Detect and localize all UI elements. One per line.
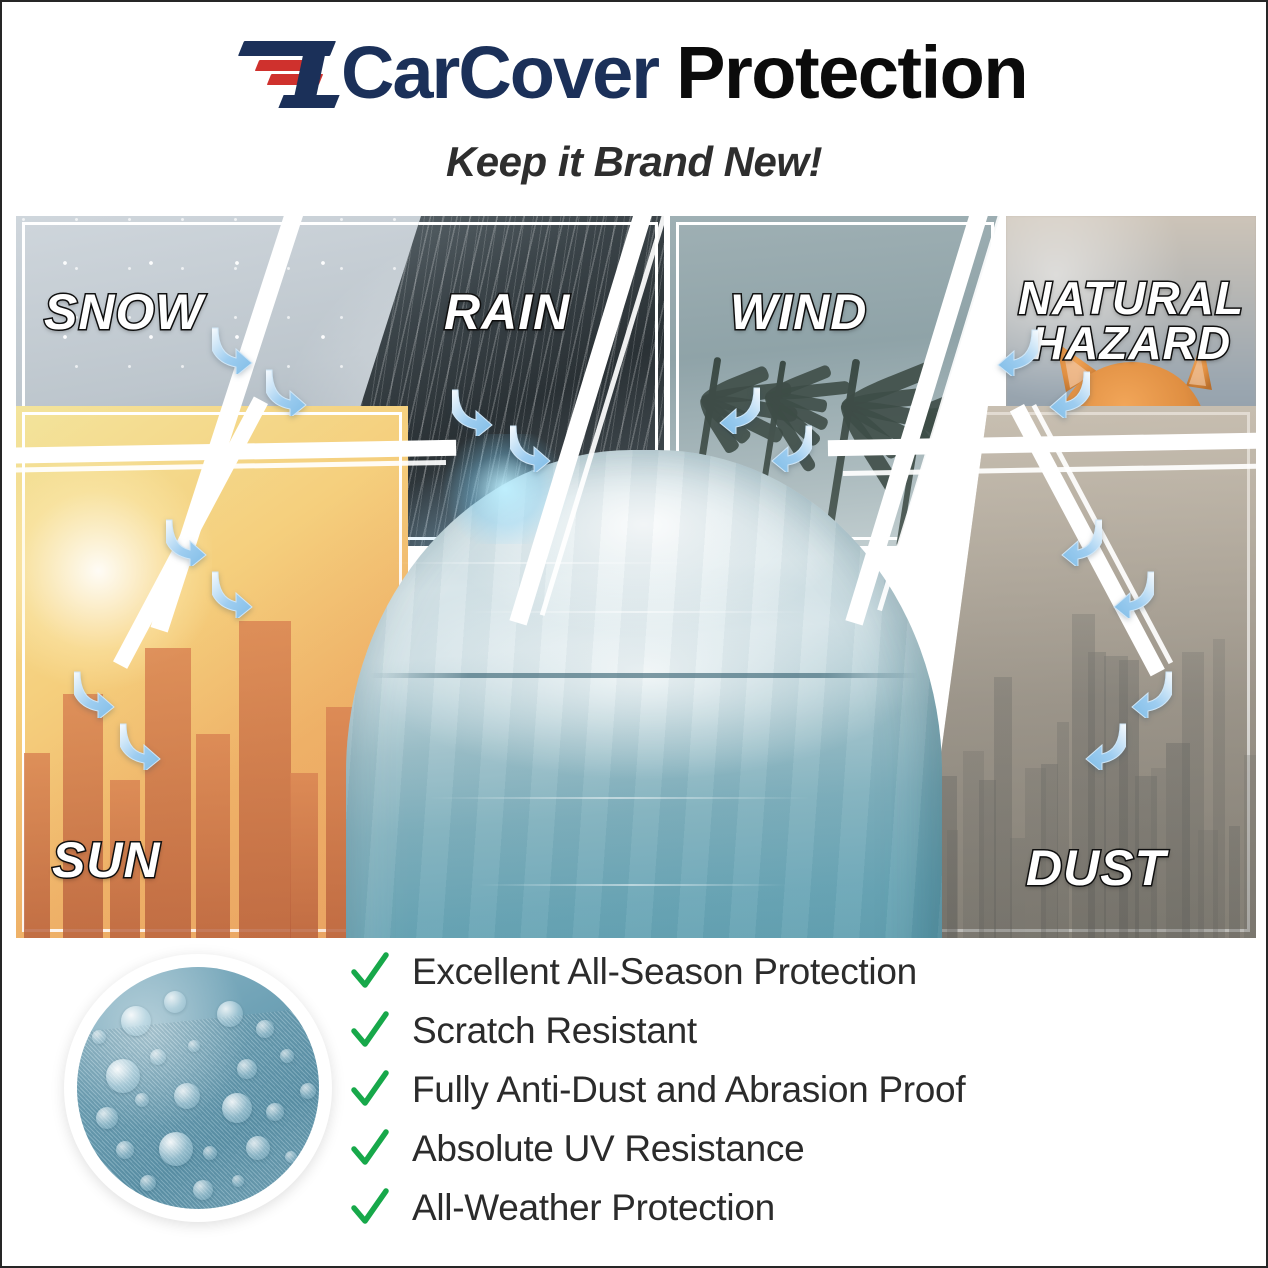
protection-collage: ❄ SNOW RAIN WIND — [16, 216, 1256, 938]
deflection-arrow-icon — [982, 326, 1038, 376]
deflection-arrow-icon — [452, 386, 508, 436]
car-with-cover-image — [334, 416, 954, 938]
deflection-arrow-icon — [212, 324, 268, 374]
deflection-arrow-icon — [756, 422, 812, 472]
panel-label-rain: RAIN — [444, 288, 570, 337]
deflection-arrow-icon — [120, 720, 176, 770]
water-bead — [232, 1175, 244, 1187]
deflection-arrow-icon — [704, 384, 760, 434]
deflection-arrow-icon — [1046, 516, 1102, 566]
water-bead — [150, 1049, 166, 1065]
deflection-arrow-icon — [166, 516, 222, 566]
icarcover-logo-icon — [241, 37, 337, 109]
water-bead — [266, 1103, 284, 1121]
checkmark-icon — [350, 1127, 390, 1171]
water-bead — [140, 1175, 156, 1191]
panel-label-dust: DUST — [1026, 844, 1166, 893]
deflection-arrow-icon — [510, 422, 566, 472]
headline-text: Protection — [676, 36, 1027, 110]
feature-item: Fully Anti-Dust and Abrasion Proof — [350, 1062, 1170, 1118]
checkmark-icon — [350, 950, 390, 994]
water-bead — [92, 1030, 106, 1044]
water-bead — [116, 1141, 134, 1159]
panel-label-snow: SNOW — [44, 288, 204, 337]
water-bead — [193, 1180, 213, 1200]
page-title: CarCover Protection — [2, 36, 1266, 110]
feature-item: Absolute UV Resistance — [350, 1121, 1170, 1177]
water-bead — [121, 1006, 151, 1036]
feature-item: Scratch Resistant — [350, 1003, 1170, 1059]
product-infographic: CarCover Protection Keep it Brand New! ❄… — [0, 0, 1268, 1268]
deflection-arrow-icon — [74, 668, 130, 718]
panel-label-natural-hazard: NATURAL HAZARD — [1006, 276, 1256, 366]
feature-label: Fully Anti-Dust and Abrasion Proof — [412, 1069, 965, 1111]
water-bead — [300, 1083, 316, 1099]
building — [239, 621, 291, 938]
feature-list: Excellent All-Season ProtectionScratch R… — [350, 944, 1170, 1239]
deflection-arrow-icon — [1070, 720, 1126, 770]
brand-name: CarCover — [341, 36, 658, 110]
building — [196, 734, 230, 938]
fabric-swatch-circle — [64, 954, 332, 1222]
checkmark-icon — [350, 1186, 390, 1230]
header: CarCover Protection Keep it Brand New! — [2, 2, 1266, 202]
building — [24, 753, 50, 938]
feature-label: Absolute UV Resistance — [412, 1128, 804, 1170]
water-bead — [164, 991, 186, 1013]
feature-label: Excellent All-Season Protection — [412, 951, 917, 993]
feature-label: All-Weather Protection — [412, 1187, 775, 1229]
palm-tree — [954, 396, 964, 546]
features-section: Excellent All-Season ProtectionScratch R… — [2, 944, 1266, 1264]
water-bead — [285, 1151, 297, 1163]
deflection-arrow-icon — [266, 366, 322, 416]
fabric-water-beading-image — [77, 967, 319, 1209]
deflection-arrow-icon — [1034, 368, 1090, 418]
panel-dust: DUST — [916, 406, 1256, 938]
tagline: Keep it Brand New! — [2, 138, 1266, 186]
building — [63, 694, 103, 938]
water-bead — [237, 1059, 257, 1079]
water-bead — [159, 1132, 193, 1166]
building — [145, 648, 191, 938]
water-bead — [188, 1040, 200, 1052]
water-bead — [135, 1093, 149, 1107]
deflection-arrow-icon — [212, 568, 268, 618]
panel-label-wind: WIND — [730, 288, 867, 337]
water-bead — [174, 1083, 200, 1109]
checkmark-icon — [350, 1068, 390, 1112]
water-bead — [203, 1146, 217, 1160]
feature-item: All-Weather Protection — [350, 1180, 1170, 1236]
feature-item: Excellent All-Season Protection — [350, 944, 1170, 1000]
checkmark-icon — [350, 1009, 390, 1053]
deflection-arrow-icon — [1098, 568, 1154, 618]
feature-label: Scratch Resistant — [412, 1010, 697, 1052]
water-bead — [222, 1093, 252, 1123]
building — [290, 773, 318, 938]
deflection-arrow-icon — [1116, 668, 1172, 718]
water-bead — [106, 1059, 140, 1093]
panel-label-sun: SUN — [52, 836, 161, 885]
